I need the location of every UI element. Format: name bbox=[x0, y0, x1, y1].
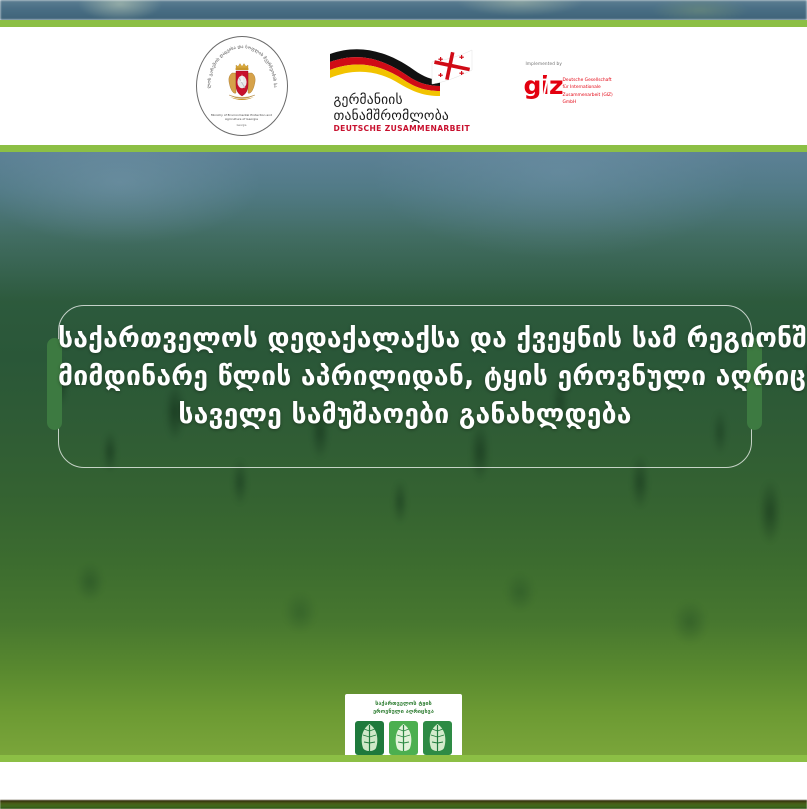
logo-header: საქართველოს გარემოს დაცვისა და სოფლის მე… bbox=[0, 27, 807, 145]
gnfi-title-ka-line1: საქართველოს ტყის bbox=[350, 700, 457, 708]
giz-logo: Implemented by giz Deutsche Gesellschaft… bbox=[508, 59, 618, 113]
leaf-icon-1 bbox=[355, 721, 384, 755]
hero-sky-haze bbox=[0, 152, 807, 302]
ministry-logo: საქართველოს გარემოს დაცვისა და სოფლის მე… bbox=[190, 35, 294, 137]
german-cooperation-line1: გერმანიის bbox=[334, 92, 464, 108]
leaf-glyph-3 bbox=[423, 721, 452, 755]
hero-title-line-3: საველე სამუშაოები განახლდება bbox=[58, 396, 752, 434]
german-cooperation-line2: თანამშრომლობა bbox=[334, 108, 464, 124]
hero-title: საქართველოს დედაქალაქსა და ქვეყნის სამ რ… bbox=[58, 320, 752, 434]
georgia-coat-of-arms-icon bbox=[222, 61, 262, 105]
bottom-photo-sliver bbox=[0, 800, 807, 809]
leaf-glyph-2 bbox=[389, 721, 418, 755]
ministry-logo-caption-sub: Georgia bbox=[211, 124, 273, 127]
hero-title-line-1: საქართველოს დედაქალაქსა და ქვეყნის სამ რ… bbox=[58, 320, 752, 358]
bottom-white-band bbox=[0, 762, 807, 800]
page-root: საქართველოს გარემოს დაცვისა და სოფლის მე… bbox=[0, 0, 807, 809]
german-georgian-flags-icon bbox=[328, 40, 474, 96]
gnfi-title-ka-line2: ეროვნული აღრიცხვა bbox=[350, 708, 457, 716]
header-green-divider bbox=[0, 145, 807, 152]
hero-bottom-green-divider bbox=[0, 755, 807, 762]
leaf-glyph-1 bbox=[355, 721, 384, 755]
german-cooperation-logo: გერმანიის თანამშრომლობა DEUTSCHE ZUSAMME… bbox=[328, 40, 474, 132]
ministry-logo-caption-en: Ministry of Environmental Protection and… bbox=[211, 113, 273, 121]
leaf-icon-2 bbox=[389, 721, 418, 755]
hero-title-line-2: მიმდინარე წლის აპრილიდან, ტყის ეროვნული … bbox=[58, 358, 752, 396]
giz-implemented-by-label: Implemented by bbox=[526, 61, 562, 66]
leaf-icon-3 bbox=[423, 721, 452, 755]
top-photo-sliver bbox=[0, 0, 807, 20]
gnfi-leaves-group bbox=[355, 721, 452, 755]
german-cooperation-line3: DEUTSCHE ZUSAMMENARBEIT bbox=[334, 124, 474, 133]
top-green-divider bbox=[0, 20, 807, 27]
giz-full-name: Deutsche Gesellschaft für Internationale… bbox=[563, 77, 619, 106]
